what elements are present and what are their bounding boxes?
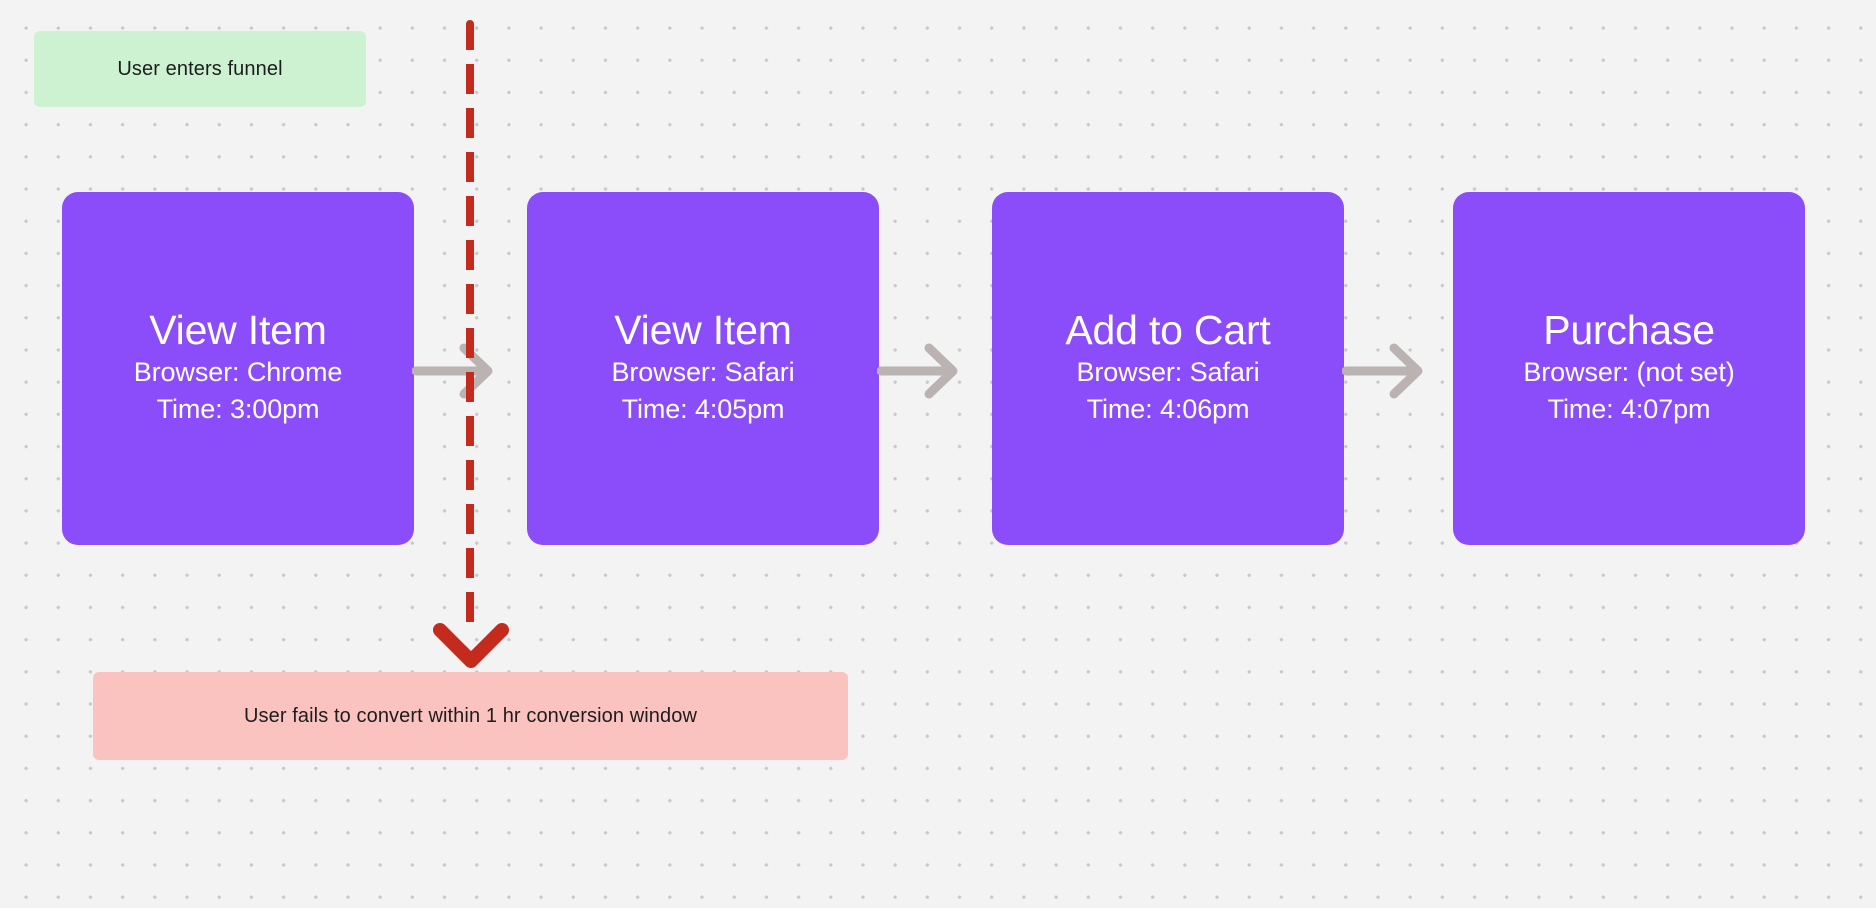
event-card-browser: Browser: Safari [1076,354,1259,391]
failure-note-label: User fails to convert within 1 hr conver… [244,704,697,728]
event-card-view-item-2[interactable]: View Item Browser: Safari Time: 4:05pm [527,192,879,545]
event-card-title: View Item [149,309,326,352]
event-card-time: Time: 4:07pm [1548,391,1711,428]
event-card-time: Time: 3:00pm [157,391,320,428]
event-card-title: View Item [614,309,791,352]
event-card-purchase[interactable]: Purchase Browser: (not set) Time: 4:07pm [1453,192,1805,545]
diagram-canvas: User enters funnel View Item Browser: Ch… [0,0,1876,908]
event-card-browser: Browser: (not set) [1523,354,1734,391]
conversion-window-dashed-line [466,20,474,634]
event-card-browser: Browser: Chrome [134,354,343,391]
failure-note-box: User fails to convert within 1 hr conver… [93,672,848,760]
event-card-add-to-cart[interactable]: Add to Cart Browser: Safari Time: 4:06pm [992,192,1344,545]
event-card-title: Add to Cart [1065,309,1270,352]
entry-note-label: User enters funnel [117,57,282,81]
event-card-time: Time: 4:06pm [1087,391,1250,428]
event-card-title: Purchase [1543,309,1715,352]
right-arrow-icon [412,340,512,402]
event-card-browser: Browser: Safari [611,354,794,391]
event-card-view-item-1[interactable]: View Item Browser: Chrome Time: 3:00pm [62,192,414,545]
entry-note-box: User enters funnel [34,31,366,107]
right-arrow-icon [877,340,977,402]
event-card-time: Time: 4:05pm [622,391,785,428]
right-arrow-icon [1342,340,1442,402]
down-arrow-icon [430,612,512,674]
